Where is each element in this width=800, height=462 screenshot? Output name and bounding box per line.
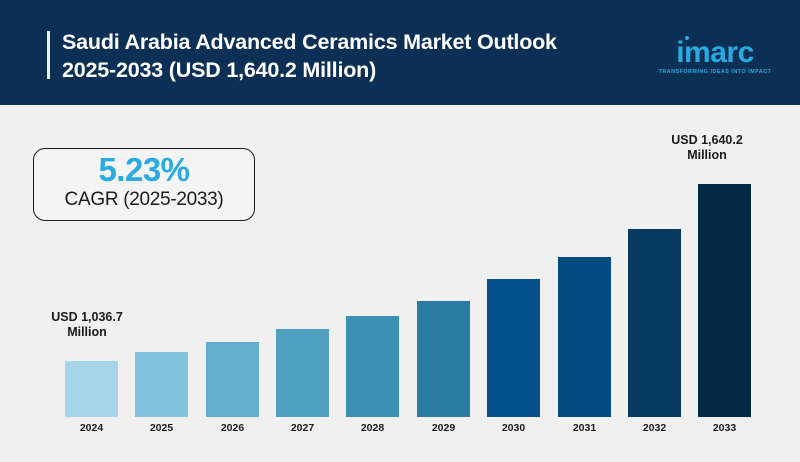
bar-2033 xyxy=(698,184,751,417)
page-title-line2: 2025-2033 (USD 1,640.2 Million) xyxy=(62,56,642,84)
logo-wordmark: imarc xyxy=(654,38,776,68)
bar-2031 xyxy=(558,257,611,417)
x-axis-label-2024: 2024 xyxy=(65,421,118,435)
x-axis-label-2026: 2026 xyxy=(206,421,259,435)
bar-chart: 2024202520262027202820292030203120322033 xyxy=(0,105,800,462)
page-title-line1: Saudi Arabia Advanced Ceramics Market Ou… xyxy=(62,28,642,56)
infographic-page: Saudi Arabia Advanced Ceramics Market Ou… xyxy=(0,0,800,462)
page-title: Saudi Arabia Advanced Ceramics Market Ou… xyxy=(62,28,642,84)
chart-x-axis: 2024202520262027202820292030203120322033 xyxy=(56,421,760,441)
header-accent-bar xyxy=(47,31,50,79)
x-axis-label-2027: 2027 xyxy=(276,421,329,435)
x-axis-label-2028: 2028 xyxy=(346,421,399,435)
header-banner: Saudi Arabia Advanced Ceramics Market Ou… xyxy=(0,0,800,105)
bar-2028 xyxy=(346,316,399,417)
imarc-logo: imarc TRANSFORMING IDEAS INTO IMPACT xyxy=(654,36,776,82)
x-axis-label-2029: 2029 xyxy=(417,421,470,435)
bar-2024 xyxy=(65,361,118,417)
bar-2026 xyxy=(206,342,259,417)
logo-tagline: TRANSFORMING IDEAS INTO IMPACT xyxy=(654,69,776,76)
bar-2030 xyxy=(487,279,540,417)
x-axis-label-2030: 2030 xyxy=(487,421,540,435)
chart-plot-area xyxy=(56,105,760,417)
x-axis-label-2025: 2025 xyxy=(135,421,188,435)
bar-2027 xyxy=(276,329,329,417)
x-axis-label-2032: 2032 xyxy=(628,421,681,435)
x-axis-label-2031: 2031 xyxy=(558,421,611,435)
x-axis-label-2033: 2033 xyxy=(698,421,751,435)
bar-2032 xyxy=(628,229,681,417)
bar-2029 xyxy=(417,301,470,417)
bar-2025 xyxy=(135,352,188,417)
